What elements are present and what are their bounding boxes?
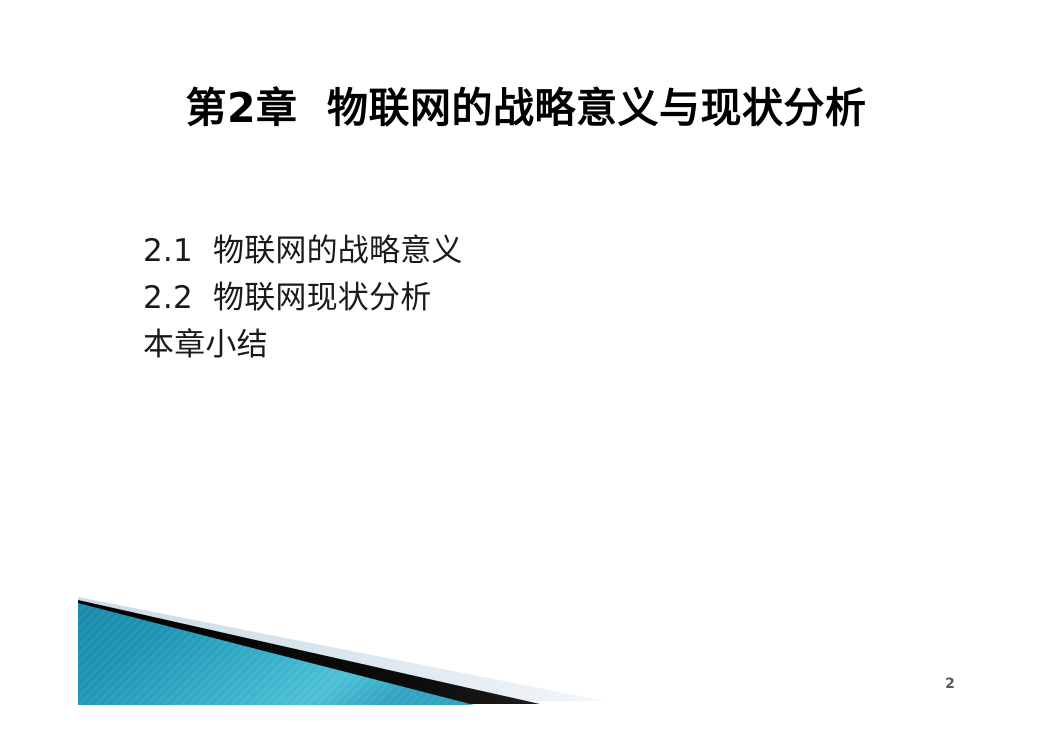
black-wedge-shape: [78, 600, 540, 704]
pale-triangle-shape: [78, 597, 605, 701]
outline-item-chapter-summary: 本章小结: [143, 322, 843, 369]
slide-canvas: 第2章 物联网的战略意义与现状分析 2.1 物联网的战略意义 2.2 物联网现状…: [0, 0, 1052, 744]
teal-triangle-shape: [78, 603, 474, 705]
slide-body-list: 2.1 物联网的战略意义 2.2 物联网现状分析 本章小结: [143, 228, 843, 369]
outline-item-section-2-2: 2.2 物联网现状分析: [143, 275, 843, 322]
slide-title: 第2章 物联网的战略意义与现状分析: [0, 84, 1052, 132]
page-number: 2: [938, 676, 962, 692]
outline-item-section-2-1: 2.1 物联网的战略意义: [143, 228, 843, 275]
corner-triangles-graphic: [0, 544, 1052, 744]
